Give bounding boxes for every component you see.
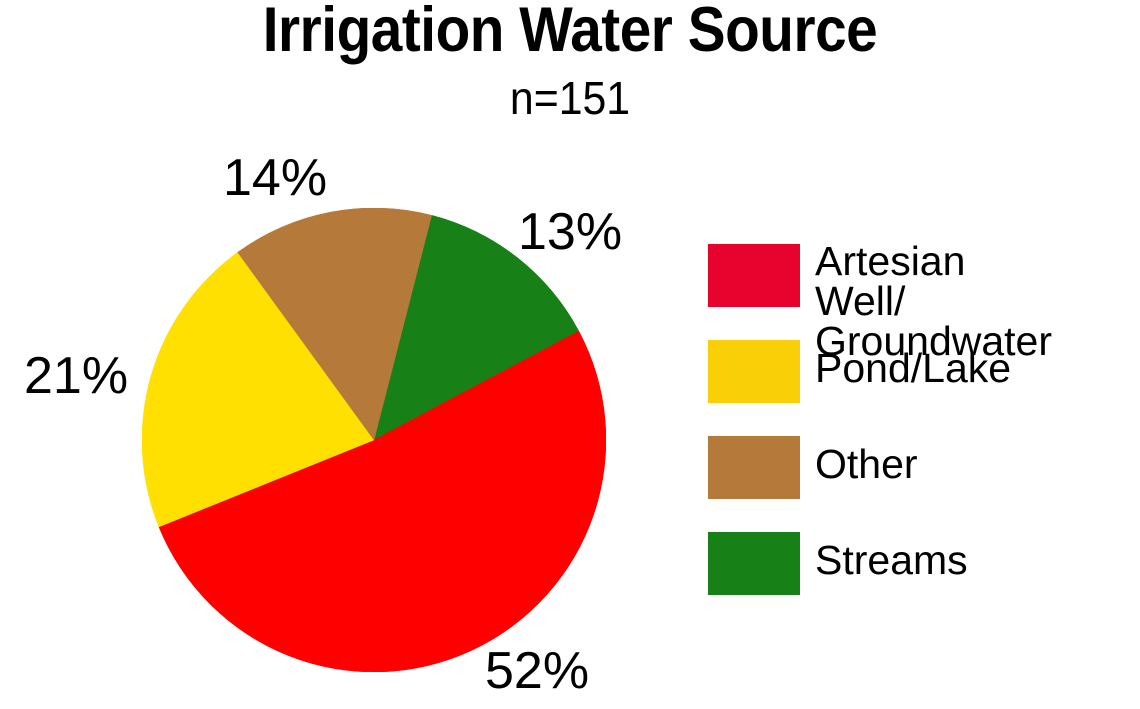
pie-slices-group: [142, 208, 606, 672]
pie-svg: [142, 208, 606, 672]
legend-label-streams: Streams: [815, 540, 968, 580]
slice-value-label-artesian: 52%: [485, 645, 589, 697]
slice-value-label-pond: 21%: [24, 350, 128, 402]
pie-chart-figure: Irrigation Water Source n=151 14% 13% 21…: [0, 0, 1140, 709]
legend-swatch-icon-pond: [708, 340, 800, 403]
legend-swatch-icon-artesian: [708, 244, 800, 307]
slice-value-label-other: 14%: [223, 152, 327, 204]
legend-label-other: Other: [815, 444, 918, 484]
legend-swatch-icon-other: [708, 436, 800, 499]
chart-subtitle-sample-size: n=151: [40, 74, 1100, 122]
legend-label-artesian: Artesian Well/ Groundwater: [815, 241, 1052, 362]
pie-plot-area: [142, 208, 606, 672]
chart-title: Irrigation Water Source: [57, 0, 1083, 62]
legend-label-pond: Pond/Lake: [815, 348, 1011, 388]
legend-swatch-icon-streams: [708, 532, 800, 595]
slice-value-label-streams: 13%: [518, 206, 622, 258]
